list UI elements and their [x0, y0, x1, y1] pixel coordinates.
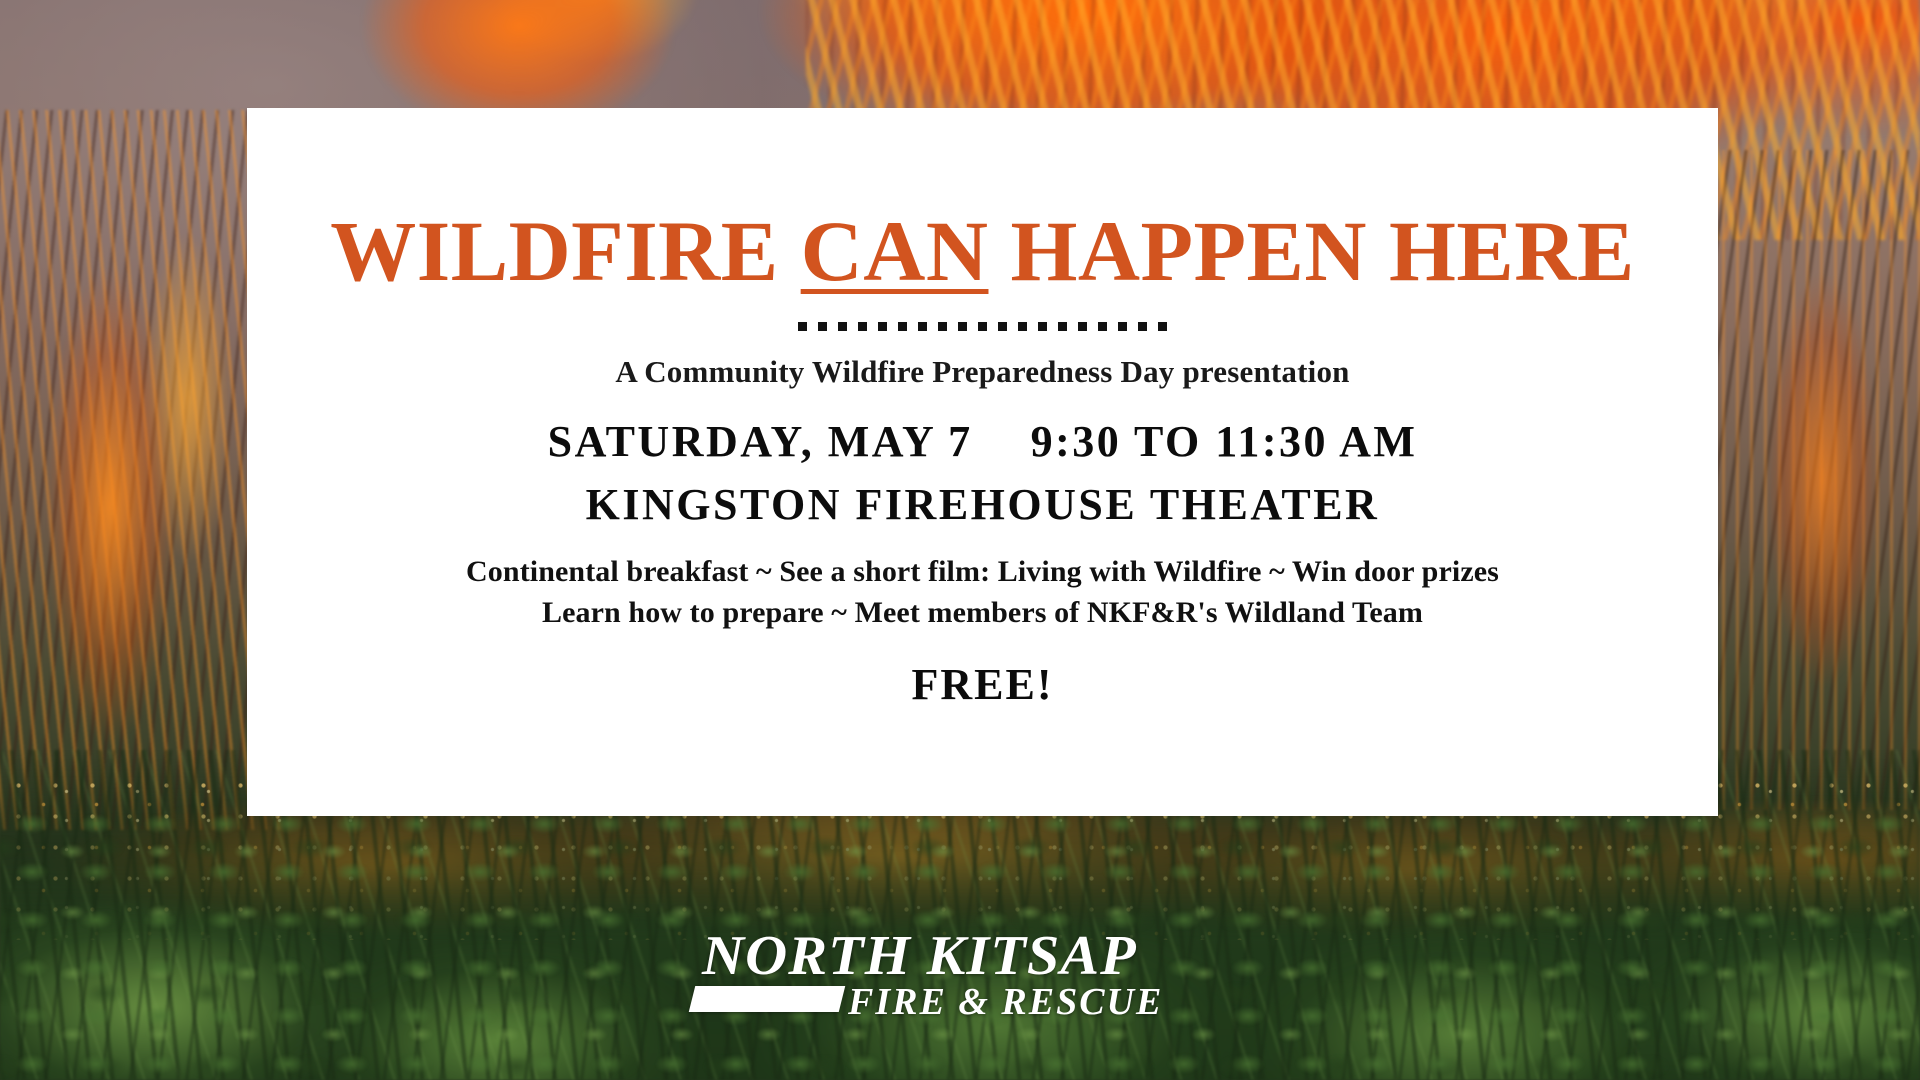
divider-dot — [1098, 322, 1107, 331]
divider-dot — [1058, 322, 1067, 331]
page-subtitle: A Community Wildfire Preparedness Day pr… — [615, 354, 1349, 390]
divider-dot — [978, 322, 987, 331]
headline-emphasis-can: CAN — [801, 203, 989, 299]
divider-dot — [818, 322, 827, 331]
divider-dot — [938, 322, 947, 331]
divider-dot — [1018, 322, 1027, 331]
divider-dot — [858, 322, 867, 331]
wildfire-event-poster: WILDFIRE CAN HAPPEN HERE A Community Wil… — [0, 0, 1920, 1080]
divider-dot — [1138, 322, 1147, 331]
divider-dot — [1038, 322, 1047, 331]
divider-dot — [798, 322, 807, 331]
logo-line-north-kitsap: NORTH KITSAP — [702, 924, 1137, 988]
content-card: WILDFIRE CAN HAPPEN HERE A Community Wil… — [247, 108, 1718, 816]
event-details-line-2: Learn how to prepare ~ Meet members of N… — [466, 593, 1499, 634]
event-time: 9:30 TO 11:30 AM — [1031, 416, 1418, 467]
event-venue: KINGSTON FIREHOUSE THEATER — [586, 479, 1380, 530]
event-details-line-1: Continental breakfast ~ See a short film… — [466, 552, 1499, 593]
divider-dot — [878, 322, 887, 331]
divider-dot — [838, 322, 847, 331]
divider-dot — [918, 322, 927, 331]
divider-dot — [898, 322, 907, 331]
event-datetime: SATURDAY, MAY 7 9:30 TO 11:30 AM — [548, 416, 1418, 467]
headline-part-2: HAPPEN HERE — [988, 203, 1634, 299]
dotted-divider — [798, 320, 1167, 332]
event-date: SATURDAY, MAY 7 — [548, 416, 973, 467]
divider-dot — [1118, 322, 1127, 331]
divider-dot — [1158, 322, 1167, 331]
divider-dot — [1078, 322, 1087, 331]
logo-line-fire-and-rescue: FIRE & RESCUE — [848, 980, 1163, 1024]
event-details: Continental breakfast ~ See a short film… — [466, 552, 1499, 633]
north-kitsap-fire-rescue-logo: NORTH KITSAP FIRE & RESCUE — [680, 910, 1240, 1030]
content-card-inner: WILDFIRE CAN HAPPEN HERE A Community Wil… — [247, 108, 1718, 816]
headline-part-1: WILDFIRE — [330, 203, 800, 299]
page-title: WILDFIRE CAN HAPPEN HERE — [330, 208, 1635, 294]
divider-dot — [998, 322, 1007, 331]
divider-dot — [958, 322, 967, 331]
logo-bar-shape — [689, 986, 845, 1012]
event-price: FREE! — [912, 659, 1054, 710]
